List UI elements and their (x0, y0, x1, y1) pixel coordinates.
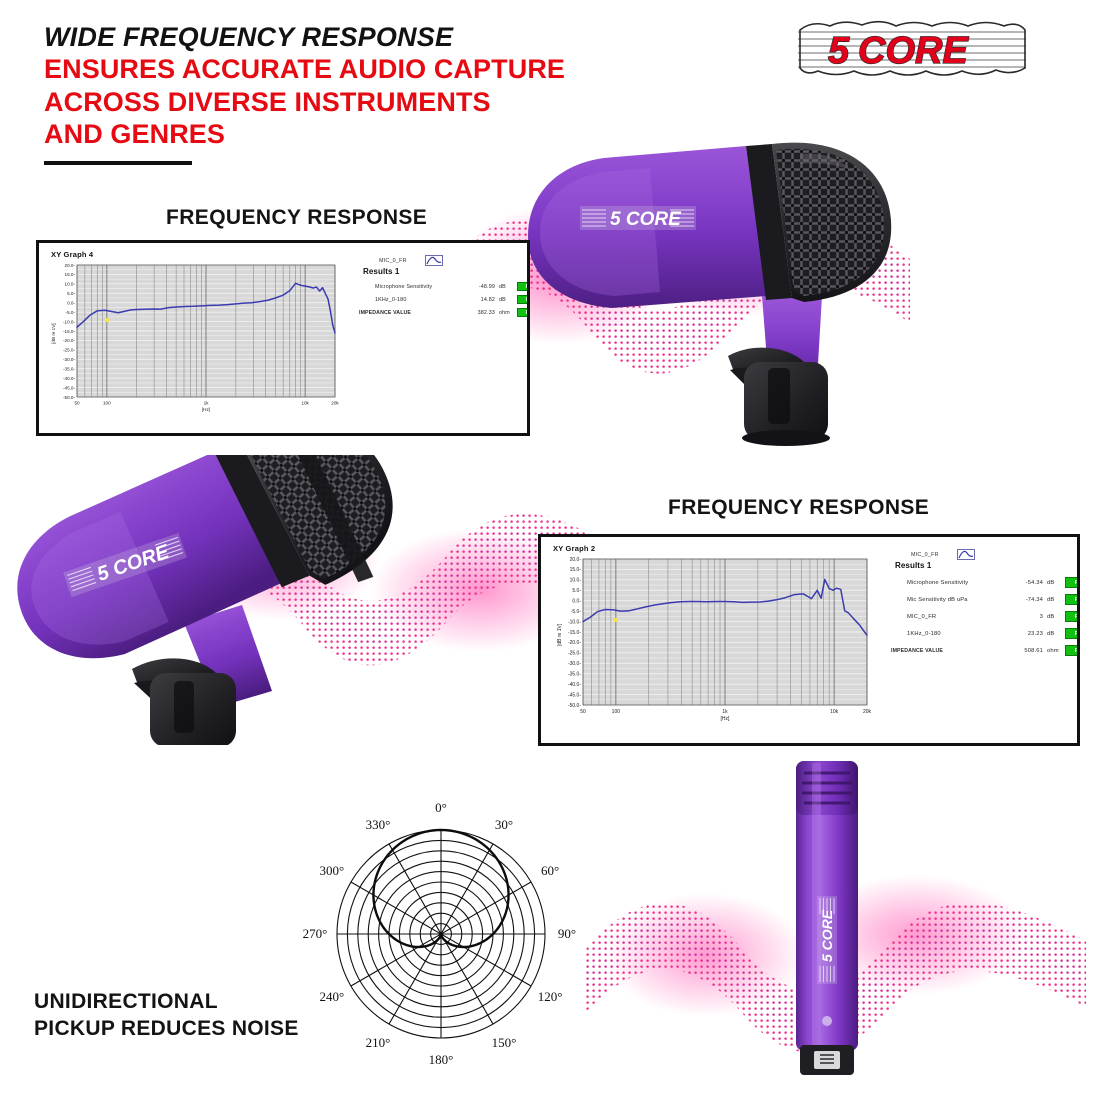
headline-underline-rule (44, 161, 192, 165)
caption-bottom-line-2: PICKUP REDUCES NOISE (34, 1015, 299, 1042)
logo-word: CORE (858, 30, 969, 72)
svg-text:-50.0-: -50.0- (63, 395, 75, 400)
polar-angle-label: 120° (538, 989, 563, 1004)
svg-text:-10.0-: -10.0- (568, 619, 581, 625)
svg-text:100: 100 (103, 401, 111, 406)
result-row: Microphone Sensitivity-54.34dBPassed (885, 574, 1080, 591)
result-status-badge: Passed (517, 295, 530, 304)
result-label: 1KHz_0-180 (353, 297, 461, 303)
svg-text:1k: 1k (722, 709, 728, 715)
result-unit: dB (1043, 580, 1065, 586)
svg-text:20k: 20k (863, 709, 872, 715)
svg-text:-30.0-: -30.0- (63, 357, 75, 362)
svg-text:5 CORE: 5 CORE (610, 209, 682, 230)
trace-legend-thumbnail-2 (957, 549, 975, 560)
svg-text:10k: 10k (301, 401, 309, 406)
headline-line-2: ACROSS DIVERSE INSTRUMENTS (44, 86, 684, 118)
result-label: Microphone Sensitivity (353, 284, 461, 290)
result-row: 1KHz_0-18014.82dBPassed (353, 293, 530, 306)
headline-kicker: WIDE FREQUENCY RESPONSE (44, 22, 684, 53)
svg-text:0.0-: 0.0- (572, 599, 581, 605)
polar-angle-label: 240° (320, 989, 345, 1004)
caption-bottom-line-1: UNIDIRECTIONAL (34, 988, 299, 1015)
polar-angle-label: 60° (541, 863, 559, 878)
graph-title-2: XY Graph 2 (553, 544, 595, 553)
results-rows-2: Microphone Sensitivity-54.34dBPassedMic … (885, 574, 1080, 659)
polar-angle-label: 0° (435, 800, 447, 815)
frequency-response-plot-4: 20.0-15.0-10.0-5.0-0.0--5.0--10.0--15.0-… (43, 259, 349, 435)
svg-text:[dB re 1V]: [dB re 1V] (557, 623, 563, 646)
svg-text:-20.0-: -20.0- (568, 640, 581, 646)
svg-text:10k: 10k (830, 709, 839, 715)
result-label: IMPEDANCE VALUE (885, 648, 1003, 654)
caption-unidirectional-pickup: UNIDIRECTIONAL PICKUP REDUCES NOISE (34, 988, 299, 1043)
svg-text:50: 50 (74, 401, 80, 406)
svg-text:20.0-: 20.0- (65, 263, 76, 268)
svg-text:10.0-: 10.0- (65, 282, 76, 287)
graph-title-4: XY Graph 4 (51, 250, 93, 259)
result-row: IMPEDANCE VALUE508.61ohmPassed (885, 642, 1080, 659)
svg-text:50: 50 (580, 709, 586, 715)
svg-text:-45.0-: -45.0- (63, 385, 75, 390)
result-row: MIC_0_FR3dBPassed (885, 608, 1080, 625)
svg-text:-20.0-: -20.0- (63, 338, 75, 343)
measurement-panel-graph-4: XY Graph 4 20.0-15.0-10.0-5.0-0.0--5.0--… (36, 240, 530, 436)
result-value: 14.82 (461, 297, 495, 303)
svg-text:-5.0-: -5.0- (571, 609, 582, 615)
result-row: Mic Sensitivity dB uPa-74.34dBPassed (885, 591, 1080, 608)
result-status-badge: Passed (517, 282, 530, 291)
svg-text:-40.0-: -40.0- (568, 682, 581, 688)
result-label: Microphone Sensitivity (885, 580, 1003, 586)
result-status-badge: Passed (1065, 645, 1080, 656)
result-value: -48.99 (461, 284, 495, 290)
result-value: -74.34 (1003, 597, 1043, 603)
drum-microphone-top-product-image: 5 CORE (500, 120, 1080, 450)
result-value: -54.34 (1003, 580, 1043, 586)
svg-text:5 CORE: 5 CORE (819, 909, 835, 962)
svg-text:-15.0-: -15.0- (568, 630, 581, 636)
svg-text:1k: 1k (204, 401, 210, 406)
polar-angle-label: 150° (492, 1035, 517, 1050)
svg-text:100: 100 (612, 709, 621, 715)
svg-text:-10.0-: -10.0- (63, 319, 75, 324)
result-label: Mic Sensitivity dB uPa (885, 597, 1003, 603)
polar-angle-label: 210° (366, 1035, 391, 1050)
results-header-4: Results 1 (353, 267, 530, 276)
frequency-response-plot-2: 20.0-15.0-10.0-5.0-0.0--5.0--10.0--15.0-… (545, 553, 881, 745)
caption-frequency-response-2: FREQUENCY RESPONSE (668, 496, 929, 520)
svg-text:0.0-: 0.0- (67, 301, 75, 306)
results-panel-4: MIC_0_FR Results 1 Microphone Sensitivit… (353, 247, 530, 429)
results-rows-4: Microphone Sensitivity-48.99dBPassed1KHz… (353, 280, 530, 319)
polar-angle-label: 330° (366, 817, 391, 832)
result-label: MIC_0_FR (885, 614, 1003, 620)
signal-name-label-2: MIC_0_FR (911, 552, 939, 558)
result-status-badge: Passed (1065, 577, 1080, 588)
polar-angle-label: 300° (320, 863, 345, 878)
svg-text:10.0-: 10.0- (570, 578, 582, 584)
result-unit: dB (495, 297, 517, 303)
result-value: 508.61 (1003, 648, 1043, 654)
pencil-condenser-microphone-product-image: 5 CORE (590, 745, 1080, 1090)
results-header-2: Results 1 (885, 561, 1080, 570)
svg-text:-35.0-: -35.0- (63, 367, 75, 372)
brand-logo-5core: 5 CORE (796, 18, 1028, 80)
result-label: IMPEDANCE VALUE (353, 310, 461, 316)
logo-digit: 5 (828, 30, 850, 72)
signal-name-label-4: MIC_0_FR (379, 258, 407, 264)
svg-text:15.0-: 15.0- (570, 567, 582, 573)
result-unit: dB (1043, 614, 1065, 620)
measurement-panel-graph-2: XY Graph 2 20.0-15.0-10.0-5.0-0.0--5.0--… (538, 534, 1080, 746)
result-row: Microphone Sensitivity-48.99dBPassed (353, 280, 530, 293)
result-unit: ohm (1043, 648, 1065, 654)
svg-text:-15.0-: -15.0- (63, 329, 75, 334)
trace-legend-thumbnail-4 (425, 255, 443, 266)
svg-text:-45.0-: -45.0- (568, 692, 581, 698)
polar-pickup-pattern-chart: 0°30°60°90°120°150°180°210°240°270°300°3… (296, 800, 586, 1072)
result-row: IMPEDANCE VALUE382.33ohmPassed (353, 306, 530, 319)
svg-text:-25.0-: -25.0- (63, 348, 75, 353)
svg-text:-40.0-: -40.0- (63, 376, 75, 381)
svg-text:-50.0-: -50.0- (568, 703, 581, 709)
result-status-badge: Passed (1065, 628, 1080, 639)
result-status-badge: Passed (517, 308, 530, 317)
result-status-badge: Passed (1065, 611, 1080, 622)
result-row: 1KHz_0-18023.23dBPassed (885, 625, 1080, 642)
headline-line-1: ENSURES ACCURATE AUDIO CAPTURE (44, 53, 684, 85)
svg-text:20k: 20k (331, 401, 339, 406)
svg-text:[dB re 1V]: [dB re 1V] (51, 323, 56, 343)
result-status-badge: Passed (1065, 594, 1080, 605)
svg-text:15.0-: 15.0- (65, 272, 76, 277)
result-value: 3 (1003, 614, 1043, 620)
plot-area-graph-2: XY Graph 2 20.0-15.0-10.0-5.0-0.0--5.0--… (545, 541, 885, 739)
svg-text:[Hz]: [Hz] (202, 407, 210, 412)
svg-text:[Hz]: [Hz] (721, 716, 731, 722)
polar-angle-label: 180° (429, 1052, 454, 1067)
svg-text:5.0-: 5.0- (572, 588, 581, 594)
svg-text:5.0-: 5.0- (67, 291, 75, 296)
polar-angle-label: 270° (303, 926, 328, 941)
result-unit: ohm (495, 310, 517, 316)
polar-angle-label: 30° (495, 817, 513, 832)
svg-text:20.0-: 20.0- (570, 557, 582, 563)
marketing-banner: WIDE FREQUENCY RESPONSE ENSURES ACCURATE… (0, 0, 1096, 1096)
svg-text:-5.0-: -5.0- (66, 310, 76, 315)
svg-text:-30.0-: -30.0- (568, 661, 581, 667)
result-value: 382.33 (461, 310, 495, 316)
result-unit: dB (1043, 631, 1065, 637)
result-unit: dB (1043, 597, 1065, 603)
result-value: 23.23 (1003, 631, 1043, 637)
plot-area-graph-4: XY Graph 4 20.0-15.0-10.0-5.0-0.0--5.0--… (43, 247, 353, 429)
result-label: 1KHz_0-180 (885, 631, 1003, 637)
svg-text:-35.0-: -35.0- (568, 672, 581, 678)
polar-angle-label: 90° (558, 926, 576, 941)
results-panel-2: MIC_0_FR Results 1 Microphone Sensitivit… (885, 541, 1080, 739)
caption-frequency-response-1: FREQUENCY RESPONSE (166, 206, 427, 230)
result-unit: dB (495, 284, 517, 290)
svg-text:-25.0-: -25.0- (568, 651, 581, 657)
